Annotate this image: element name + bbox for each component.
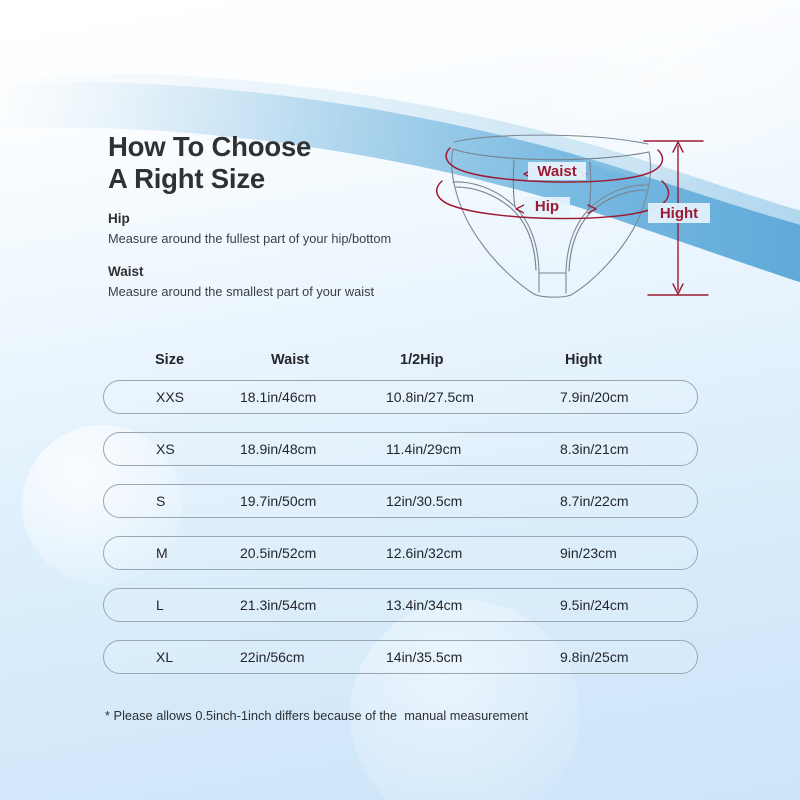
cell-hight: 7.9in/20cm [560, 389, 628, 405]
cell-waist: 18.1in/46cm [240, 389, 316, 405]
cell-hip: 10.8in/27.5cm [386, 389, 474, 405]
page-title: How To Choose A Right Size [108, 131, 468, 196]
cell-size: S [156, 493, 165, 509]
column-header-hip: 1/2Hip [400, 352, 444, 368]
cell-hip: 14in/35.5cm [386, 649, 462, 665]
cell-hight: 8.3in/21cm [560, 441, 628, 457]
cell-waist: 22in/56cm [240, 649, 305, 665]
size-chart-page: How To Choose A Right Size Hip Measure a… [0, 0, 800, 800]
cell-hight: 9.8in/25cm [560, 649, 628, 665]
table-row[interactable]: XXS 18.1in/46cm 10.8in/27.5cm 7.9in/20cm [103, 380, 698, 414]
cell-size: XS [156, 441, 175, 457]
cell-hip: 13.4in/34cm [386, 597, 462, 613]
column-header-size: Size [155, 352, 184, 368]
cell-waist: 19.7in/50cm [240, 493, 316, 509]
cell-size: XXS [156, 389, 184, 405]
cell-waist: 18.9in/48cm [240, 441, 316, 457]
column-header-waist: Waist [271, 352, 309, 368]
cell-hip: 11.4in/29cm [386, 441, 461, 457]
cell-hight: 9in/23cm [560, 545, 617, 561]
cell-hight: 9.5in/24cm [560, 597, 628, 613]
table-row[interactable]: M 20.5in/52cm 12.6in/32cm 9in/23cm [103, 536, 698, 570]
table-row[interactable]: L 21.3in/54cm 13.4in/34cm 9.5in/24cm [103, 588, 698, 622]
table-row[interactable]: S 19.7in/50cm 12in/30.5cm 8.7in/22cm [103, 484, 698, 518]
table-row[interactable]: XS 18.9in/48cm 11.4in/29cm 8.3in/21cm [103, 432, 698, 466]
table-row[interactable]: XL 22in/56cm 14in/35.5cm 9.8in/25cm [103, 640, 698, 674]
cell-waist: 21.3in/54cm [240, 597, 316, 613]
column-header-hight: Hight [565, 352, 602, 368]
cell-size: L [156, 597, 164, 613]
size-table: Size Waist 1/2Hip Hight XXS 18.1in/46cm … [103, 352, 698, 692]
cell-hight: 8.7in/22cm [560, 493, 628, 509]
cell-hip: 12in/30.5cm [386, 493, 462, 509]
cell-hip: 12.6in/32cm [386, 545, 462, 561]
table-header-row: Size Waist 1/2Hip Hight [103, 352, 698, 380]
waist-label: Waist [537, 163, 576, 180]
hip-label: Hip [535, 198, 559, 215]
cell-waist: 20.5in/52cm [240, 545, 316, 561]
footnote: * Please allows 0.5inch-1inch differs be… [105, 708, 528, 723]
cell-size: XL [156, 649, 173, 665]
hight-label: Hight [660, 205, 698, 222]
cell-size: M [156, 545, 168, 561]
brief-underwear-diagram: Waist Hip Hight [420, 108, 720, 323]
